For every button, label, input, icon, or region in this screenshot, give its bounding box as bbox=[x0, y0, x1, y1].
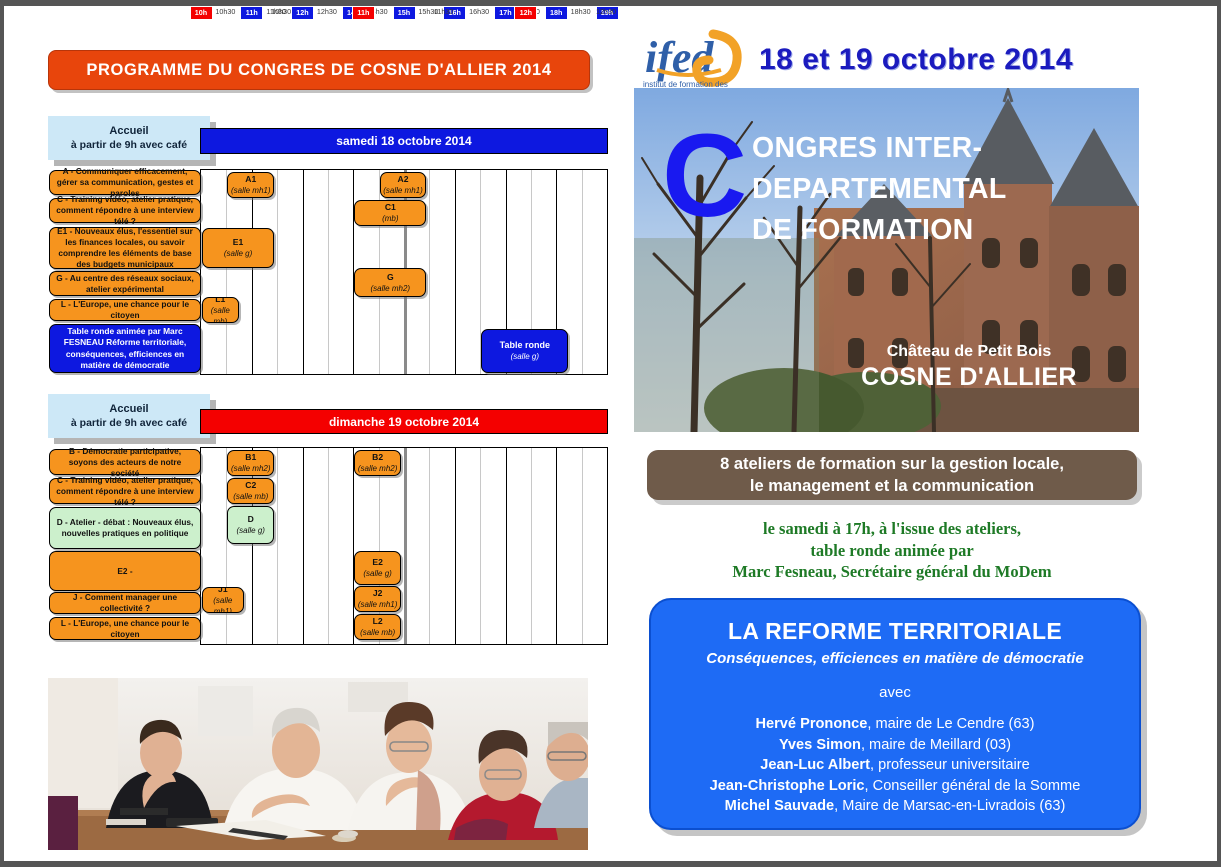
session-code: B2 bbox=[372, 452, 383, 463]
hero-title-line2: DEPARTEMENTAL bbox=[752, 169, 1139, 210]
grid-line bbox=[226, 170, 227, 374]
session-block: G(salle mh2) bbox=[354, 268, 426, 297]
session-block: E1(salle g) bbox=[202, 228, 274, 268]
session-room: (salle mh2) bbox=[231, 463, 271, 474]
speaker-role: , Conseiller général de la Somme bbox=[865, 778, 1081, 794]
session-code: E1 bbox=[233, 237, 244, 248]
session-code: G bbox=[387, 272, 394, 283]
session-code: A1 bbox=[245, 174, 256, 185]
session-block: L1(salle mb) bbox=[202, 297, 239, 323]
grid-line bbox=[582, 448, 583, 644]
speaker-row: Michel Sauvade, Maire de Marsac-en-Livra… bbox=[651, 796, 1139, 817]
session-code: A2 bbox=[398, 174, 409, 185]
grid-line bbox=[303, 170, 304, 374]
grid-line bbox=[303, 448, 304, 644]
workshop-topic: A - Communiquer efficacement, gérer sa c… bbox=[49, 170, 201, 195]
session-room: (salle mh1) bbox=[358, 599, 398, 610]
speaker-name: Jean-Christophe Loric bbox=[710, 778, 865, 794]
accueil-title: Accueil bbox=[109, 124, 148, 138]
workshop-topic: C - Training vidéo, atelier pratique, co… bbox=[49, 478, 201, 504]
workshop-topic: E2 - bbox=[49, 551, 201, 591]
hero-image: C ONGRES INTER- DEPARTEMENTAL DE FORMATI… bbox=[634, 88, 1139, 432]
daybar-saturday: samedi 18 octobre 2014 bbox=[200, 128, 608, 154]
panel-avec: avec bbox=[651, 684, 1139, 701]
grid-line bbox=[353, 448, 354, 644]
session-room: (salle mh2) bbox=[371, 283, 411, 294]
grid-line bbox=[252, 170, 253, 374]
grid-line bbox=[404, 448, 407, 644]
roundtable-note: le samedi à 17h, à l'issue des ateliers,… bbox=[647, 518, 1137, 583]
session-block: B2(salle mh2) bbox=[354, 450, 401, 476]
accueil-sunday: Accueil à partir de 9h avec café bbox=[48, 394, 210, 438]
meeting-photo bbox=[48, 678, 588, 850]
poster-column: ifed institut de formation des élus démo… bbox=[629, 6, 1217, 861]
session-block: C2(salle mb) bbox=[227, 478, 274, 504]
session-code: E2 bbox=[372, 557, 383, 568]
daybar-sunday: dimanche 19 octobre 2014 bbox=[200, 409, 608, 434]
grid-line bbox=[455, 170, 456, 374]
workshop-topic: B - Démocratie participative, soyons des… bbox=[49, 449, 201, 475]
workshops-banner: 8 ateliers de formation sur la gestion l… bbox=[647, 450, 1137, 500]
hero-title: ONGRES INTER- DEPARTEMENTAL DE FORMATION bbox=[752, 128, 1139, 251]
session-room: (salle g) bbox=[224, 248, 252, 259]
speaker-role: , professeur universitaire bbox=[870, 757, 1030, 773]
workshop-topic: L - L'Europe, une chance pour le citoyen bbox=[49, 299, 201, 321]
grid-line bbox=[277, 170, 278, 374]
session-block: A1(salle mh1) bbox=[227, 172, 274, 198]
speaker-name: Hervé Prononce bbox=[755, 716, 867, 732]
speaker-role: , maire de Meillard (03) bbox=[861, 737, 1011, 753]
session-block: C1(mb) bbox=[354, 200, 426, 226]
program-column: PROGRAMME DU CONGRES DE COSNE D'ALLIER 2… bbox=[4, 6, 629, 861]
grid-line bbox=[226, 448, 227, 644]
session-block: J1(salle mh1) bbox=[202, 587, 244, 613]
time-tick: 11h bbox=[352, 6, 375, 20]
session-room: (salle g) bbox=[511, 351, 539, 362]
session-block: L2(salle mb) bbox=[354, 614, 401, 640]
panel-speaker-list: Hervé Prononce, maire de Le Cendre (63)Y… bbox=[651, 714, 1139, 817]
grid-line bbox=[328, 170, 329, 374]
grid-line bbox=[506, 448, 507, 644]
session-code: J2 bbox=[373, 588, 383, 599]
roundtable-line1: le samedi à 17h, à l'issue des ateliers, bbox=[647, 518, 1137, 540]
speaker-row: Jean-Luc Albert, professeur universitair… bbox=[651, 755, 1139, 776]
hero-title-line1: ONGRES INTER- bbox=[752, 128, 1139, 169]
session-code: L1 bbox=[215, 297, 225, 305]
hero-title-line3: DE FORMATION bbox=[752, 210, 1139, 251]
time-tick: 10h bbox=[190, 6, 213, 20]
speaker-role: , Maire de Marsac-en-Livradois (63) bbox=[834, 798, 1065, 814]
grid-line bbox=[429, 448, 430, 644]
speaker-row: Jean-Christophe Loric, Conseiller généra… bbox=[651, 776, 1139, 797]
grid-line bbox=[429, 170, 430, 374]
hero-drop-cap: C bbox=[662, 126, 747, 226]
session-code: B1 bbox=[245, 452, 256, 463]
time-tick: 11h30 bbox=[431, 6, 457, 18]
session-room: (salle g) bbox=[237, 525, 265, 536]
workshops-banner-line2: le management et la communication bbox=[720, 475, 1064, 497]
grid-line bbox=[531, 448, 532, 644]
session-block: B1(salle mh2) bbox=[227, 450, 274, 476]
grid-line bbox=[328, 448, 329, 644]
speaker-row: Yves Simon, maire de Meillard (03) bbox=[651, 735, 1139, 756]
session-room: (salle mh1) bbox=[205, 595, 241, 614]
workshop-topic: J - Comment manager une collectivité ? bbox=[49, 592, 201, 614]
session-room: (salle mb) bbox=[205, 305, 236, 324]
grid-line bbox=[277, 448, 278, 644]
roundtable-line2: table ronde animée par bbox=[647, 540, 1137, 562]
grid-line bbox=[480, 448, 481, 644]
session-block: Table ronde(salle g) bbox=[481, 329, 568, 373]
poster-page: PROGRAMME DU CONGRES DE COSNE D'ALLIER 2… bbox=[4, 6, 1217, 861]
workshop-topic: L - L'Europe, une chance pour le citoyen bbox=[49, 617, 201, 640]
panel-title: LA REFORME TERRITORIALE bbox=[651, 618, 1139, 645]
session-room: (salle mb) bbox=[360, 627, 395, 638]
workshop-topic: E1 - Nouveaux élus, l'essentiel sur les … bbox=[49, 227, 201, 269]
speaker-name: Michel Sauvade bbox=[725, 798, 835, 814]
accueil-saturday: Accueil à partir de 9h avec café bbox=[48, 116, 210, 160]
session-room: (salle mh2) bbox=[358, 463, 398, 474]
speaker-row: Hervé Prononce, maire de Le Cendre (63) bbox=[651, 714, 1139, 735]
roundtable-line3: Marc Fesneau, Secrétaire général du MoDe… bbox=[647, 561, 1137, 583]
session-room: (salle mh1) bbox=[231, 185, 271, 196]
session-code: C1 bbox=[385, 202, 396, 213]
session-code: L2 bbox=[373, 616, 383, 627]
session-room: (salle mb) bbox=[233, 491, 268, 502]
grid-line bbox=[455, 448, 456, 644]
panel-box: LA REFORME TERRITORIALE Conséquences, ef… bbox=[649, 598, 1141, 830]
session-block: J2(salle mh1) bbox=[354, 586, 401, 612]
venue-city: COSNE D'ALLIER bbox=[804, 363, 1134, 392]
session-code: C2 bbox=[245, 480, 256, 491]
grid-sunday bbox=[200, 447, 608, 645]
panel-subtitle: Conséquences, efficiences en matière de … bbox=[651, 650, 1139, 667]
time-tick: 10h30 bbox=[268, 6, 294, 18]
session-room: (salle mh1) bbox=[383, 185, 423, 196]
session-code: J1 bbox=[218, 587, 228, 595]
speaker-role: , maire de Le Cendre (63) bbox=[867, 716, 1034, 732]
poster-dates: 18 et 19 octobre 2014 bbox=[759, 38, 1209, 82]
program-banner: PROGRAMME DU CONGRES DE COSNE D'ALLIER 2… bbox=[48, 50, 590, 90]
time-tick: 12h30 bbox=[593, 6, 619, 18]
speaker-name: Jean-Luc Albert bbox=[760, 757, 870, 773]
workshop-topic: Table ronde animée par Marc FESNEAU Réfo… bbox=[49, 324, 201, 373]
grid-line bbox=[582, 170, 583, 374]
session-block: A2(salle mh1) bbox=[380, 172, 427, 198]
session-block: E2(salle g) bbox=[354, 551, 401, 585]
session-code: Table ronde bbox=[500, 340, 550, 351]
session-room: (mb) bbox=[382, 213, 398, 224]
session-code: D bbox=[248, 514, 254, 525]
workshops-banner-line1: 8 ateliers de formation sur la gestion l… bbox=[720, 453, 1064, 475]
workshop-topic: D - Atelier - débat : Nouveaux élus, nou… bbox=[49, 507, 201, 549]
workshop-topic: C - Training vidéo, atelier pratique, co… bbox=[49, 198, 201, 223]
speaker-name: Yves Simon bbox=[779, 737, 861, 753]
venue-name: Château de Petit Bois bbox=[804, 343, 1134, 361]
session-room: (salle g) bbox=[363, 568, 391, 579]
accueil-title: Accueil bbox=[109, 402, 148, 416]
grid-line bbox=[556, 448, 557, 644]
accueil-detail: à partir de 9h avec café bbox=[71, 416, 187, 430]
time-tick: 12h bbox=[514, 6, 537, 20]
timescale-sunday: 10h10h3011h11h3012h12h30 bbox=[200, 6, 606, 18]
workshop-topic: G - Au centre des réseaux sociaux, ateli… bbox=[49, 271, 201, 296]
accueil-detail: à partir de 9h avec café bbox=[71, 138, 187, 152]
session-block: D(salle g) bbox=[227, 506, 274, 544]
